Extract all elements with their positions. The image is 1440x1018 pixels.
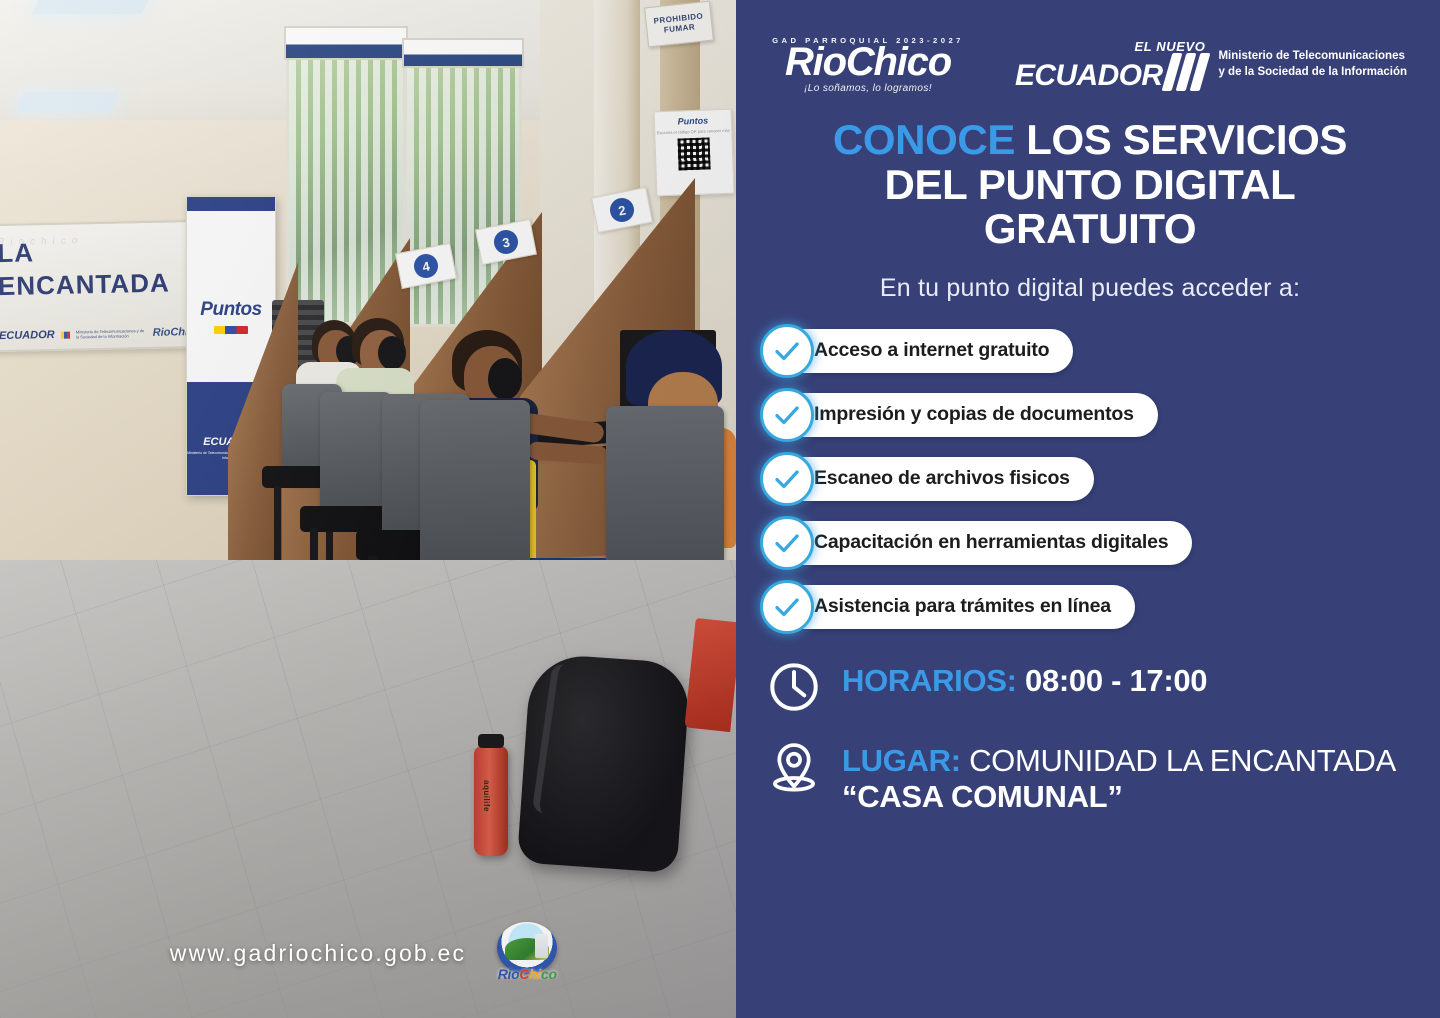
schedule-value: 08:00 - 17:00 xyxy=(1025,663,1207,698)
check-circle-icon xyxy=(760,324,814,378)
service-label: Asistencia para trámites en línea xyxy=(814,595,1111,618)
check-circle-icon xyxy=(760,516,814,570)
window-blind xyxy=(284,26,408,60)
service-label: Capacitación en herramientas digitales xyxy=(814,531,1168,554)
banner-line2: ENCANTADA xyxy=(0,267,200,302)
service-label: Impresión y copias de documentos xyxy=(814,403,1134,426)
badge-word-part: hi xyxy=(529,966,541,982)
hall-banner: Riochico LA ENCANTADA ECUADOR Ministerio… xyxy=(0,220,209,353)
service-item[interactable]: Capacitación en herramientas digitales xyxy=(766,521,1192,565)
ecuador-wordmark-row: ECUADOR xyxy=(1015,53,1205,91)
badge-word-part: C xyxy=(519,966,529,982)
headphones-icon xyxy=(378,336,406,370)
check-circle-icon xyxy=(760,452,814,506)
booth-number-value: 2 xyxy=(608,196,636,224)
service-label: Acceso a internet gratuito xyxy=(814,339,1049,362)
headline-rest: LOS SERVICIOS xyxy=(1026,116,1347,163)
booth-number-value: 3 xyxy=(492,228,520,256)
location-value-strong: “CASA COMUNAL” xyxy=(842,779,1123,814)
riochico-logo: GAD PARROQUIAL 2023-2027 RioChico ¡Lo so… xyxy=(773,36,963,94)
photo-footer: www.gadriochico.gob.ec RioChico xyxy=(0,922,736,984)
flag-icon xyxy=(61,331,70,338)
headline-accent: CONOCE xyxy=(833,116,1015,163)
window-blind xyxy=(402,38,524,68)
venue-photo: PROHIBIDO FUMAR Puntos Escanea el código… xyxy=(0,0,736,1018)
ministry-text: Ministerio de Telecomunicaciones y de la… xyxy=(1218,49,1407,80)
service-item[interactable]: Impresión y copias de documentos xyxy=(766,393,1158,437)
page-title: CONOCE LOS SERVICIOS DEL PUNTO DIGITAL G… xyxy=(766,118,1414,252)
check-circle-icon xyxy=(760,580,814,634)
badge-wordmark: RioChico xyxy=(488,966,566,982)
headline-line3: GRATUITO xyxy=(984,205,1196,252)
puntos-poster-logo: Puntos xyxy=(677,115,708,126)
clock-icon xyxy=(766,659,822,715)
bottle-cap xyxy=(478,734,504,748)
service-item[interactable]: Escaneo de archivos fisicos xyxy=(766,457,1094,501)
bottle-label: aquilife xyxy=(482,780,491,812)
service-item[interactable]: Asistencia para trámites en línea xyxy=(766,585,1135,629)
ecuador-wordmark: ECUADOR xyxy=(1015,61,1162,91)
location-text: LUGAR: COMUNIDAD LA ENCANTADA “CASA COMU… xyxy=(842,739,1414,815)
tower-icon xyxy=(535,934,548,958)
banner-line1: LA xyxy=(0,234,200,269)
service-label: Escaneo de archivos fisicos xyxy=(814,467,1070,490)
ministry-line-1: Ministerio de Telecomunicaciones xyxy=(1218,49,1407,65)
ecuador-wordmark-block: EL NUEVO ECUADOR xyxy=(1015,40,1205,91)
riochico-arc-text: GAD PARROQUIAL 2023-2027 xyxy=(771,36,965,45)
ecuador-logo: EL NUEVO ECUADOR Ministerio de Telecomun… xyxy=(1015,40,1407,91)
qr-code-icon xyxy=(678,138,711,171)
ecuador-slashes-icon xyxy=(1167,53,1205,91)
location-value: COMUNIDAD LA ENCANTADA xyxy=(969,743,1394,778)
rollup-logo: Puntos xyxy=(187,299,275,321)
rollup-cap xyxy=(187,197,275,211)
info-block: HORARIOS: 08:00 - 17:00 LUGAR: COMUNIDAD… xyxy=(766,659,1414,815)
skylight-light xyxy=(31,0,151,14)
website-url[interactable]: www.gadriochico.gob.ec xyxy=(170,940,466,967)
logos-row: GAD PARROQUIAL 2023-2027 RioChico ¡Lo so… xyxy=(766,36,1414,94)
puntos-poster-caption: Escanea el código QR para conocer más xyxy=(657,128,730,136)
location-row: LUGAR: COMUNIDAD LA ENCANTADA “CASA COMU… xyxy=(766,739,1414,815)
location-key: LUGAR: xyxy=(842,743,961,778)
badge-word-part: co xyxy=(541,966,557,982)
headphones-icon xyxy=(488,358,522,400)
banner-ministry-text: Ministerio de Telecomunicaciones y de la… xyxy=(76,328,147,340)
ministry-line-2: y de la Sociedad de la Información xyxy=(1218,65,1407,81)
no-smoking-sign: PROHIBIDO FUMAR xyxy=(644,1,714,48)
info-panel: GAD PARROQUIAL 2023-2027 RioChico ¡Lo so… xyxy=(736,0,1440,1018)
schedule-text: HORARIOS: 08:00 - 17:00 xyxy=(842,659,1207,699)
riochico-wordmark: RioChico xyxy=(773,43,963,81)
poster: PROHIBIDO FUMAR Puntos Escanea el código… xyxy=(0,0,1440,1018)
check-circle-icon xyxy=(760,388,814,442)
schedule-row: HORARIOS: 08:00 - 17:00 xyxy=(766,659,1414,715)
schedule-key: HORARIOS: xyxy=(842,663,1017,698)
riochico-badge-logo: RioChico xyxy=(488,922,566,984)
water-bottle: aquilife xyxy=(474,746,508,856)
riochico-slogan: ¡Lo soñamos, lo logramos! xyxy=(773,83,963,94)
banner-ecuador-logo: ECUADOR xyxy=(0,329,55,342)
services-list: Acceso a internet gratuito Impresión y c… xyxy=(766,329,1414,629)
no-smoking-line2: FUMAR xyxy=(663,22,695,35)
ecuador-kicker: EL NUEVO xyxy=(1015,40,1205,53)
skylight-light xyxy=(16,92,119,112)
flag-icon xyxy=(214,326,248,334)
headline-line2: DEL PUNTO DIGITAL xyxy=(885,161,1296,208)
subheading: En tu punto digital puedes acceder a: xyxy=(766,274,1414,303)
map-pin-icon xyxy=(766,739,822,795)
service-item[interactable]: Acceso a internet gratuito xyxy=(766,329,1073,373)
booth-number-value: 4 xyxy=(412,252,440,280)
badge-word-part: Rio xyxy=(498,966,520,982)
